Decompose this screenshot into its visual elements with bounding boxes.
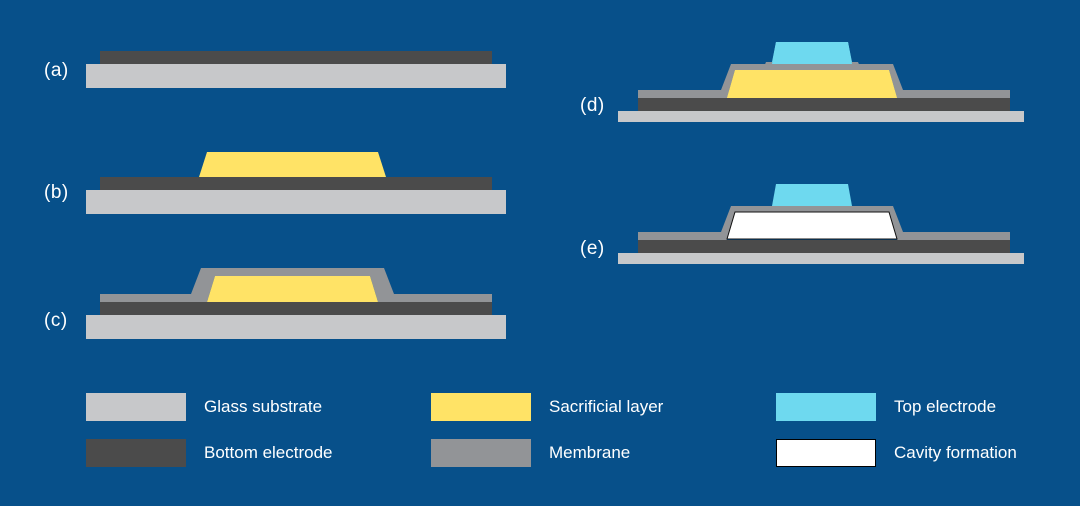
glass-substrate-layer <box>618 111 1024 122</box>
glass-substrate-layer <box>86 64 506 88</box>
top-electrode-shape <box>772 42 852 64</box>
glass-substrate-layer <box>86 315 506 339</box>
legend-item-sacrificial-layer: Sacrificial layer <box>431 392 663 422</box>
top-electrode-shape <box>772 184 852 206</box>
panel-e-diagram <box>618 180 1024 264</box>
panel-label-a: (a) <box>44 60 69 82</box>
bottom-electrode-layer <box>100 302 492 315</box>
legend-item-top-electrode: Top electrode <box>776 392 996 422</box>
legend-column-1: Glass substrate Bottom electrode <box>86 392 416 482</box>
membrane-swatch <box>431 439 531 467</box>
panel-label-c: (c) <box>44 310 68 332</box>
sacrificial-layer-swatch <box>431 393 531 421</box>
sacrificial-layer-shape <box>727 70 897 98</box>
panel-c-diagram <box>86 264 506 342</box>
legend-item-bottom-electrode: Bottom electrode <box>86 438 333 468</box>
panel-label-d: (d) <box>580 95 605 117</box>
panel-label-b: (b) <box>44 182 69 204</box>
legend-label: Membrane <box>549 443 630 463</box>
legend-label: Cavity formation <box>894 443 1017 463</box>
process-flow-figure: (a) (b) (c) (d) (e) <box>0 0 1080 506</box>
legend-item-cavity-formation: Cavity formation <box>776 438 1017 468</box>
glass-substrate-layer <box>618 253 1024 264</box>
bottom-electrode-layer <box>100 51 492 64</box>
panel-label-e: (e) <box>580 238 605 260</box>
bottom-electrode-layer <box>100 177 492 190</box>
glass-substrate-layer <box>86 190 506 214</box>
legend-label: Bottom electrode <box>204 443 333 463</box>
cavity-formation-shape <box>727 212 897 239</box>
glass-substrate-swatch <box>86 393 186 421</box>
bottom-electrode-layer <box>638 240 1010 253</box>
cavity-formation-swatch <box>776 439 876 467</box>
top-electrode-swatch <box>776 393 876 421</box>
legend-label: Top electrode <box>894 397 996 417</box>
legend-column-2: Sacrificial layer Membrane <box>431 392 761 482</box>
legend-column-3: Top electrode Cavity formation <box>776 392 1080 482</box>
sacrificial-layer-shape <box>199 152 386 177</box>
bottom-electrode-swatch <box>86 439 186 467</box>
legend-item-glass-substrate: Glass substrate <box>86 392 322 422</box>
bottom-electrode-layer <box>638 98 1010 111</box>
legend-item-membrane: Membrane <box>431 438 630 468</box>
panel-b-diagram <box>86 146 506 218</box>
panel-a-diagram <box>86 42 506 92</box>
legend-label: Glass substrate <box>204 397 322 417</box>
sacrificial-layer-shape <box>207 276 378 302</box>
panel-d-overlay <box>618 38 1024 122</box>
legend-label: Sacrificial layer <box>549 397 663 417</box>
legend: Glass substrate Bottom electrode Sacrifi… <box>86 392 1036 482</box>
